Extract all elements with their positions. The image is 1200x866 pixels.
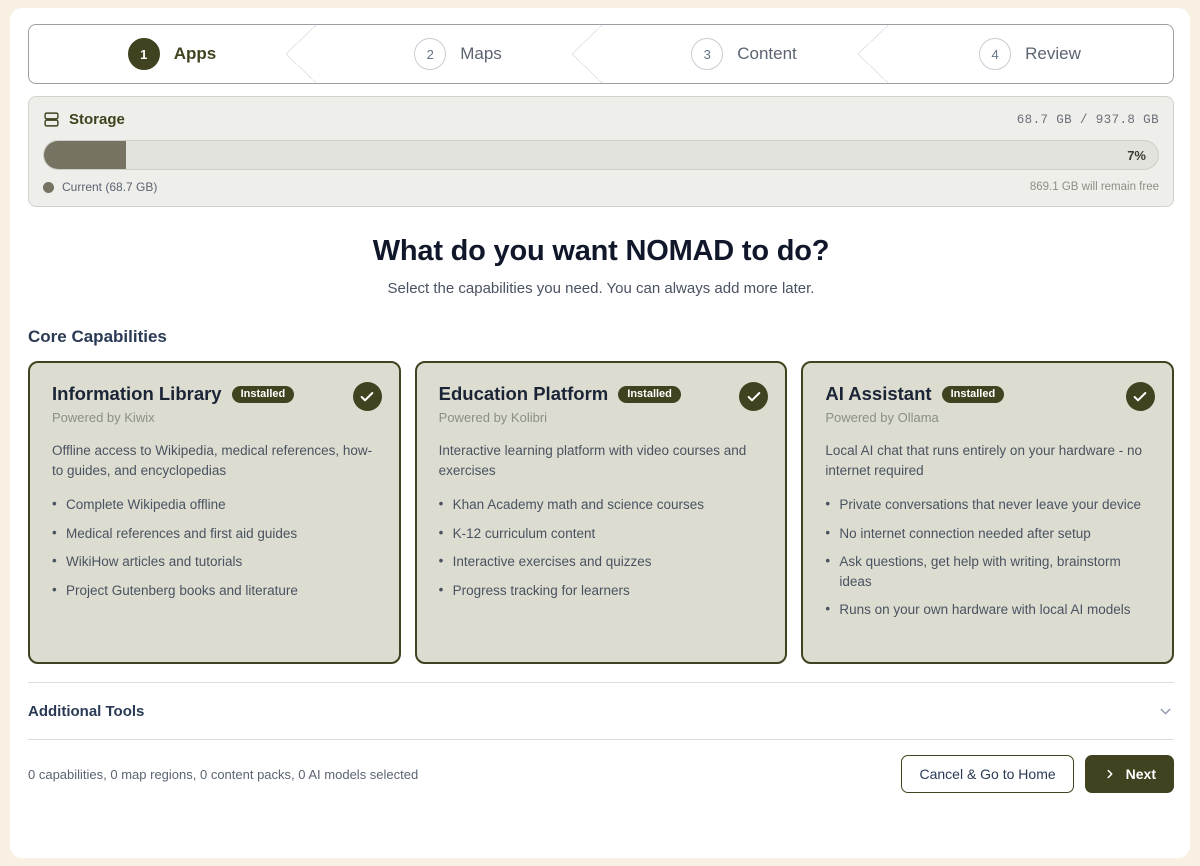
step-label: Review xyxy=(1025,44,1081,64)
storage-label-text: Storage xyxy=(69,111,125,128)
wizard-stepper: 1 Apps 2 Maps 3 Content 4 Review xyxy=(28,24,1174,84)
additional-tools-label: Additional Tools xyxy=(28,703,144,720)
stepper-step-apps[interactable]: 1 Apps xyxy=(29,25,315,83)
list-item: Medical references and first aid guides xyxy=(52,524,377,544)
list-item: Project Gutenberg books and literature xyxy=(52,581,377,601)
card-description: Offline access to Wikipedia, medical ref… xyxy=(52,441,377,481)
list-item: Khan Academy math and science courses xyxy=(439,495,764,515)
list-item: Private conversations that never leave y… xyxy=(825,495,1150,515)
check-icon xyxy=(746,389,762,405)
installed-badge: Installed xyxy=(618,386,681,403)
step-label: Content xyxy=(737,44,797,64)
check-icon xyxy=(359,389,375,405)
installed-badge: Installed xyxy=(942,386,1005,403)
selection-summary: 0 capabilities, 0 map regions, 0 content… xyxy=(28,767,418,782)
list-item: No internet connection needed after setu… xyxy=(825,524,1150,544)
card-subtitle: Powered by Kolibri xyxy=(439,410,764,425)
core-capabilities-heading: Core Capabilities xyxy=(28,327,1174,347)
storage-panel: Storage 68.7 GB / 937.8 GB 7% Current (6… xyxy=(28,96,1174,207)
footer-bar: 0 capabilities, 0 map regions, 0 content… xyxy=(28,740,1174,808)
stepper-step-maps[interactable]: 2 Maps xyxy=(315,25,601,83)
app-window: 1 Apps 2 Maps 3 Content 4 Review xyxy=(10,8,1190,858)
storage-amounts: 68.7 GB / 937.8 GB xyxy=(1017,113,1159,127)
storage-remaining-label: 869.1 GB will remain free xyxy=(1030,181,1159,193)
list-item: K-12 curriculum content xyxy=(439,524,764,544)
card-title: AI Assistant xyxy=(825,383,931,405)
card-description: Interactive learning platform with video… xyxy=(439,441,764,481)
drive-icon xyxy=(43,111,60,128)
selected-check-icon[interactable] xyxy=(739,382,768,411)
storage-progress-fill xyxy=(44,141,126,169)
list-item: Runs on your own hardware with local AI … xyxy=(825,600,1150,620)
hero-section: What do you want NOMAD to do? Select the… xyxy=(28,235,1174,297)
storage-header: Storage xyxy=(43,111,125,128)
installed-badge: Installed xyxy=(232,386,295,403)
storage-percent-label: 7% xyxy=(1127,141,1146,169)
step-label: Maps xyxy=(460,44,502,64)
page-title: What do you want NOMAD to do? xyxy=(28,235,1174,268)
selected-check-icon[interactable] xyxy=(353,382,382,411)
card-feature-list: Private conversations that never leave y… xyxy=(825,495,1150,620)
capability-card-information-library[interactable]: Information Library Installed Powered by… xyxy=(28,361,401,664)
chevron-down-icon[interactable] xyxy=(1157,703,1174,720)
additional-tools-section: Additional Tools xyxy=(28,682,1174,740)
list-item: WikiHow articles and tutorials xyxy=(52,552,377,572)
list-item: Progress tracking for learners xyxy=(439,581,764,601)
cancel-and-go-home-button[interactable]: Cancel & Go to Home xyxy=(901,755,1073,793)
card-title: Education Platform xyxy=(439,383,609,405)
card-subtitle: Powered by Kiwix xyxy=(52,410,377,425)
capability-card-grid: Information Library Installed Powered by… xyxy=(28,361,1174,664)
card-feature-list: Complete Wikipedia offline Medical refer… xyxy=(52,495,377,600)
step-number-badge: 3 xyxy=(691,38,723,70)
legend-color-swatch xyxy=(43,182,54,193)
step-label: Apps xyxy=(174,44,217,64)
footer-actions: Cancel & Go to Home Next xyxy=(901,755,1174,793)
additional-tools-toggle[interactable]: Additional Tools xyxy=(28,683,1174,739)
list-item: Interactive exercises and quizzes xyxy=(439,552,764,572)
next-button-label: Next xyxy=(1126,766,1156,782)
storage-legend: Current (68.7 GB) xyxy=(43,180,157,194)
list-item: Ask questions, get help with writing, br… xyxy=(825,552,1150,591)
next-button[interactable]: Next xyxy=(1085,755,1174,793)
list-item: Complete Wikipedia offline xyxy=(52,495,377,515)
step-number-badge: 1 xyxy=(128,38,160,70)
card-feature-list: Khan Academy math and science courses K-… xyxy=(439,495,764,600)
stepper-step-content[interactable]: 3 Content xyxy=(601,25,887,83)
selected-check-icon[interactable] xyxy=(1126,382,1155,411)
step-number-badge: 2 xyxy=(414,38,446,70)
chevron-right-icon xyxy=(1103,767,1117,781)
storage-progress-bar: 7% xyxy=(43,140,1159,170)
capability-card-ai-assistant[interactable]: AI Assistant Installed Powered by Ollama… xyxy=(801,361,1174,664)
stepper-step-review[interactable]: 4 Review xyxy=(887,25,1173,83)
check-icon xyxy=(1132,389,1148,405)
step-number-badge: 4 xyxy=(979,38,1011,70)
card-description: Local AI chat that runs entirely on your… xyxy=(825,441,1150,481)
legend-label: Current (68.7 GB) xyxy=(62,180,157,194)
page-subtitle: Select the capabilities you need. You ca… xyxy=(28,280,1174,297)
card-subtitle: Powered by Ollama xyxy=(825,410,1150,425)
card-title: Information Library xyxy=(52,383,222,405)
capability-card-education-platform[interactable]: Education Platform Installed Powered by … xyxy=(415,361,788,664)
